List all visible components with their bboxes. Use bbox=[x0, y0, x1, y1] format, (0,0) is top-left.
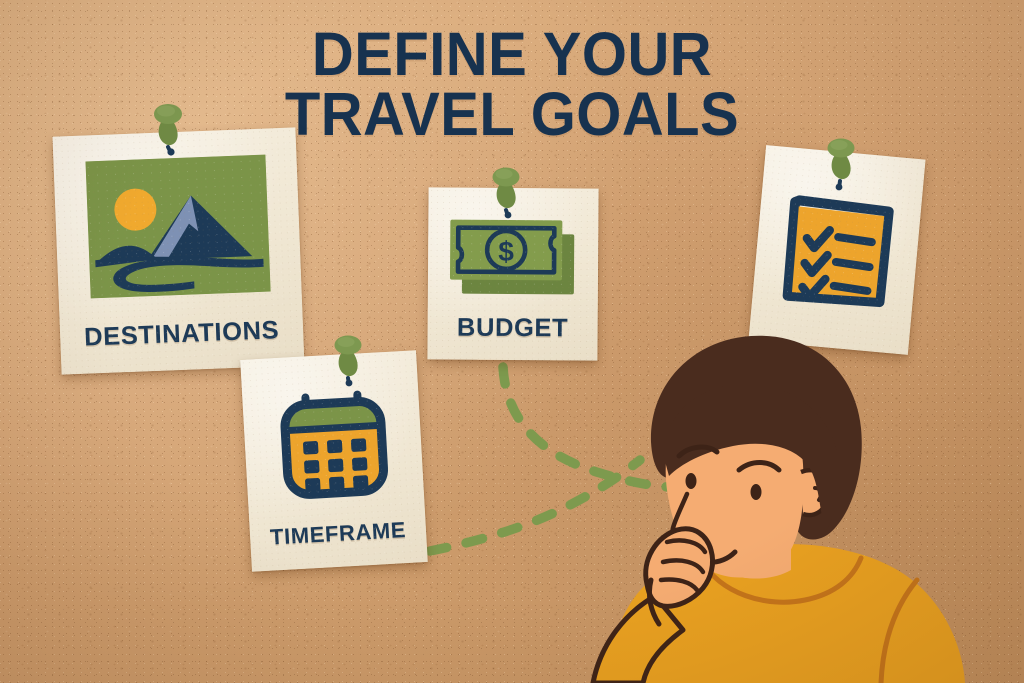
checklist-clipboard-icon bbox=[776, 189, 902, 315]
landscape-art bbox=[85, 155, 270, 299]
thinking-person-illustration bbox=[505, 312, 975, 683]
illustration-canvas: DEFINE YOUR TRAVEL GOALS bbox=[0, 0, 1024, 683]
card-label-timeframe: TIMEFRAME bbox=[249, 516, 426, 552]
card-destinations[interactable]: DESTINATIONS bbox=[53, 127, 305, 374]
calendar-day-grid bbox=[303, 438, 369, 491]
dollar-symbol: $ bbox=[498, 236, 514, 267]
checklist-line-1 bbox=[838, 237, 872, 242]
checklist-line-3 bbox=[834, 286, 868, 291]
checklist-line-2 bbox=[836, 262, 870, 267]
calendar-icon bbox=[275, 387, 393, 501]
mountain-landscape-photo bbox=[85, 155, 270, 299]
banknotes-dollar-icon: $ bbox=[444, 214, 583, 303]
page-title: DEFINE YOUR TRAVEL GOALS bbox=[26, 24, 999, 145]
eye-right bbox=[751, 484, 762, 500]
card-timeframe[interactable]: TIMEFRAME bbox=[240, 350, 428, 571]
card-label-destinations: DESTINATIONS bbox=[60, 315, 304, 353]
eye-left bbox=[686, 473, 697, 489]
